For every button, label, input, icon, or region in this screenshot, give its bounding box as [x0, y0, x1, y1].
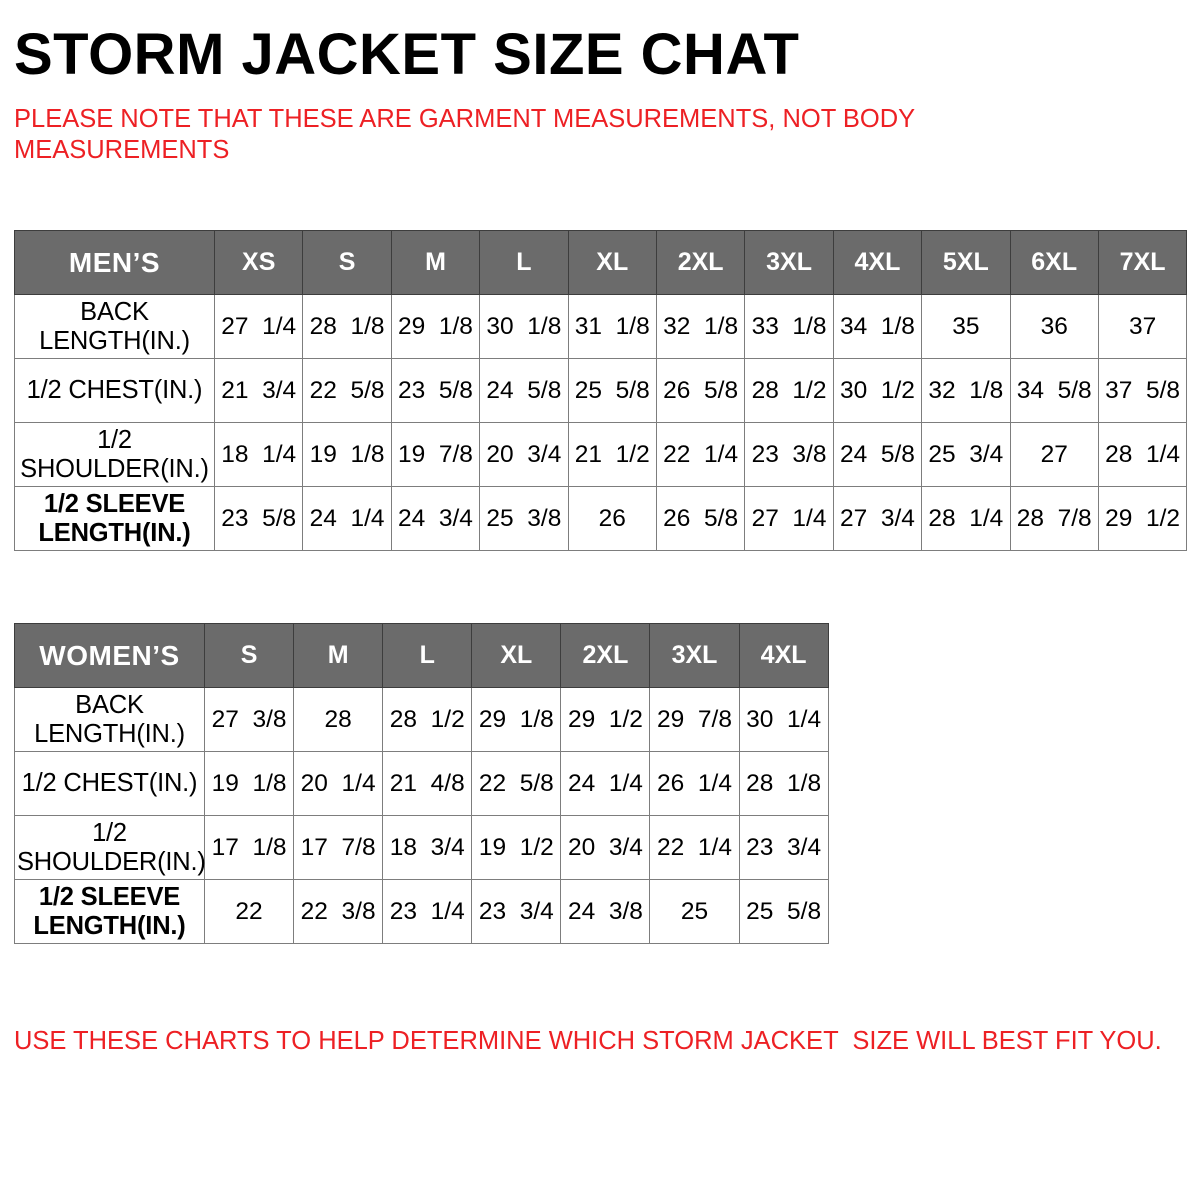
measurement-cell: 17 7/8: [294, 816, 383, 880]
measurement-cell: 20 3/4: [480, 423, 568, 487]
measurement-cell: 26 1/4: [650, 752, 739, 816]
column-header-xs: XS: [215, 231, 303, 295]
measurement-cell: 24 3/8: [561, 880, 650, 944]
column-header-4xl: 4XL: [739, 624, 828, 688]
measurement-cell: 29 1/2: [561, 688, 650, 752]
measurement-cell: 23 3/4: [739, 816, 828, 880]
measurement-cell: 23 5/8: [391, 359, 479, 423]
measurement-cell: 18 3/4: [383, 816, 472, 880]
measurement-cell: 28 1/4: [922, 487, 1010, 551]
measurement-cell: 30 1/4: [739, 688, 828, 752]
measurement-cell: 25 3/4: [922, 423, 1010, 487]
measurement-cell: 19 1/8: [205, 752, 294, 816]
measurement-cell: 37: [1098, 295, 1186, 359]
measurement-cell: 34 1/8: [833, 295, 921, 359]
measurement-cell: 23 3/4: [472, 880, 561, 944]
row-label: 1/2 SHOULDER(IN.): [15, 816, 205, 880]
table-row: 1/2 SHOULDER(IN.)17 1/817 7/818 3/419 1/…: [15, 816, 829, 880]
column-header-s: S: [303, 231, 391, 295]
measurement-cell: 17 1/8: [205, 816, 294, 880]
measurement-cell: 29 1/2: [1098, 487, 1186, 551]
column-header-2xl: 2XL: [656, 231, 744, 295]
column-header-l: L: [383, 624, 472, 688]
measurement-cell: 22: [205, 880, 294, 944]
measurement-cell: 27 1/4: [215, 295, 303, 359]
column-header-3xl: 3XL: [650, 624, 739, 688]
row-label: BACK LENGTH(IN.): [15, 295, 215, 359]
measurement-cell: 28: [294, 688, 383, 752]
measurement-cell: 23 3/8: [745, 423, 833, 487]
measurement-cell: 28 1/2: [383, 688, 472, 752]
measurement-cell: 20 3/4: [561, 816, 650, 880]
measurement-cell: 27 3/4: [833, 487, 921, 551]
measurement-cell: 26: [568, 487, 656, 551]
measurement-cell: 32 1/8: [656, 295, 744, 359]
measurement-cell: 28 1/8: [303, 295, 391, 359]
column-header-m: M: [294, 624, 383, 688]
measurement-cell: 31 1/8: [568, 295, 656, 359]
row-label: 1/2 SHOULDER(IN.): [15, 423, 215, 487]
measurement-cell: 19 7/8: [391, 423, 479, 487]
column-header-3xl: 3XL: [745, 231, 833, 295]
measurement-cell: 29 1/8: [391, 295, 479, 359]
womens-table-head: WOMEN’SSMLXL2XL3XL4XL: [15, 624, 829, 688]
measurement-cell: 30 1/2: [833, 359, 921, 423]
column-header-xl: XL: [472, 624, 561, 688]
measurement-cell: 24 5/8: [833, 423, 921, 487]
measurement-cell: 23 5/8: [215, 487, 303, 551]
mens-table-head: MEN’SXSSMLXL2XL3XL4XL5XL6XL7XL: [15, 231, 1187, 295]
measurement-cell: 22 5/8: [472, 752, 561, 816]
row-label: 1/2 SLEEVE LENGTH(IN.): [15, 487, 215, 551]
measurement-cell: 28 7/8: [1010, 487, 1098, 551]
table-row: 1/2 SHOULDER(IN.)18 1/419 1/819 7/820 3/…: [15, 423, 1187, 487]
page-title: STORM JACKET SIZE CHAT: [14, 0, 1186, 86]
column-header-7xl: 7XL: [1098, 231, 1186, 295]
measurement-cell: 25 3/8: [480, 487, 568, 551]
column-header-m: M: [391, 231, 479, 295]
measurement-cell: 30 1/8: [480, 295, 568, 359]
measurement-cell: 36: [1010, 295, 1098, 359]
measurement-cell: 19 1/8: [303, 423, 391, 487]
measurement-cell: 24 1/4: [561, 752, 650, 816]
measurement-cell: 35: [922, 295, 1010, 359]
mens-size-table: MEN’SXSSMLXL2XL3XL4XL5XL6XL7XL BACK LENG…: [14, 230, 1187, 551]
mens-table-body: BACK LENGTH(IN.)27 1/428 1/829 1/830 1/8…: [15, 295, 1187, 551]
table-row: 1/2 SLEEVE LENGTH(IN.)2222 3/823 1/423 3…: [15, 880, 829, 944]
measurement-cell: 18 1/4: [215, 423, 303, 487]
column-header-4xl: 4XL: [833, 231, 921, 295]
row-label: BACK LENGTH(IN.): [15, 688, 205, 752]
column-header-2xl: 2XL: [561, 624, 650, 688]
measurement-cell: 26 5/8: [656, 487, 744, 551]
measurement-cell: 29 1/8: [472, 688, 561, 752]
measurement-cell: 28 1/8: [739, 752, 828, 816]
help-determine-note: USE THESE CHARTS TO HELP DETERMINE WHICH…: [14, 944, 1186, 1056]
measurement-cell: 19 1/2: [472, 816, 561, 880]
measurement-cell: 28 1/2: [745, 359, 833, 423]
measurement-cell: 24 3/4: [391, 487, 479, 551]
garment-measurement-note: PLEASE NOTE THAT THESE ARE GARMENT MEASU…: [14, 86, 974, 166]
measurement-cell: 22 1/4: [656, 423, 744, 487]
measurement-cell: 21 3/4: [215, 359, 303, 423]
row-label: 1/2 CHEST(IN.): [15, 359, 215, 423]
measurement-cell: 25: [650, 880, 739, 944]
measurement-cell: 21 1/2: [568, 423, 656, 487]
size-chart-page: STORM JACKET SIZE CHAT PLEASE NOTE THAT …: [0, 0, 1200, 1200]
table-row: 1/2 CHEST(IN.)21 3/422 5/823 5/824 5/825…: [15, 359, 1187, 423]
column-header-5xl: 5XL: [922, 231, 1010, 295]
mens-header-label: MEN’S: [15, 231, 215, 295]
measurement-cell: 25 5/8: [568, 359, 656, 423]
womens-size-table: WOMEN’SSMLXL2XL3XL4XL BACK LENGTH(IN.)27…: [14, 623, 829, 944]
measurement-cell: 37 5/8: [1098, 359, 1186, 423]
measurement-cell: 25 5/8: [739, 880, 828, 944]
column-header-s: S: [205, 624, 294, 688]
column-header-6xl: 6XL: [1010, 231, 1098, 295]
measurement-cell: 33 1/8: [745, 295, 833, 359]
measurement-cell: 21 4/8: [383, 752, 472, 816]
measurement-cell: 23 1/4: [383, 880, 472, 944]
measurement-cell: 34 5/8: [1010, 359, 1098, 423]
measurement-cell: 32 1/8: [922, 359, 1010, 423]
womens-header-row: WOMEN’SSMLXL2XL3XL4XL: [15, 624, 829, 688]
row-label: 1/2 CHEST(IN.): [15, 752, 205, 816]
measurement-cell: 26 5/8: [656, 359, 744, 423]
measurement-cell: 22 1/4: [650, 816, 739, 880]
measurement-cell: 27 3/8: [205, 688, 294, 752]
measurement-cell: 28 1/4: [1098, 423, 1186, 487]
column-header-xl: XL: [568, 231, 656, 295]
measurement-cell: 27: [1010, 423, 1098, 487]
table-row: BACK LENGTH(IN.)27 3/82828 1/229 1/829 1…: [15, 688, 829, 752]
mens-header-row: MEN’SXSSMLXL2XL3XL4XL5XL6XL7XL: [15, 231, 1187, 295]
table-row: 1/2 SLEEVE LENGTH(IN.)23 5/824 1/424 3/4…: [15, 487, 1187, 551]
column-header-l: L: [480, 231, 568, 295]
table-row: BACK LENGTH(IN.)27 1/428 1/829 1/830 1/8…: [15, 295, 1187, 359]
measurement-cell: 24 1/4: [303, 487, 391, 551]
measurement-cell: 20 1/4: [294, 752, 383, 816]
womens-header-label: WOMEN’S: [15, 624, 205, 688]
womens-table-body: BACK LENGTH(IN.)27 3/82828 1/229 1/829 1…: [15, 688, 829, 944]
measurement-cell: 29 7/8: [650, 688, 739, 752]
row-label: 1/2 SLEEVE LENGTH(IN.): [15, 880, 205, 944]
measurement-cell: 22 5/8: [303, 359, 391, 423]
measurement-cell: 24 5/8: [480, 359, 568, 423]
table-row: 1/2 CHEST(IN.)19 1/820 1/421 4/822 5/824…: [15, 752, 829, 816]
measurement-cell: 27 1/4: [745, 487, 833, 551]
measurement-cell: 22 3/8: [294, 880, 383, 944]
